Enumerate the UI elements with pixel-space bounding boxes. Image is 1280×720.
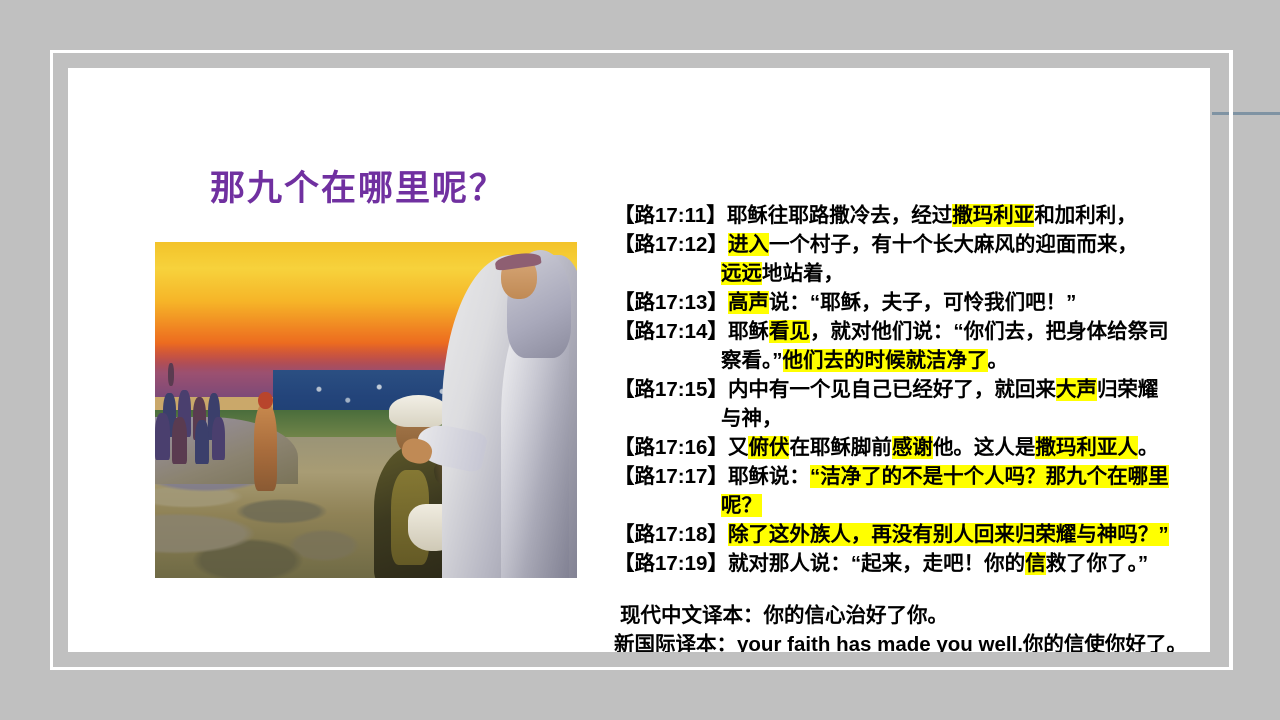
scripture-reference: 【路17:12】 [614, 233, 728, 256]
scripture-text: 与神， [721, 407, 783, 430]
scripture-text: 。 [1138, 436, 1159, 459]
scripture-line: 察看。”他们去的时候就洁净了。 [614, 346, 1210, 375]
scripture-highlight: “洁净了的不是十个人吗？那九个在哪里 [810, 465, 1169, 488]
scripture-highlight: 看见 [769, 320, 810, 343]
scripture-highlight: 进入 [728, 233, 769, 256]
scripture-text: 一个村子，有十个长大麻风的迎面而来， [769, 233, 1138, 256]
scripture-text: 耶稣说： [728, 465, 810, 488]
translation-line: 新国际译本：your faith has made you well.你的信使你… [614, 630, 1210, 652]
translation-label: 新国际译本： [614, 633, 737, 652]
painting-leper-figure [155, 413, 170, 460]
scripture-highlight: 远远 [721, 262, 762, 285]
scripture-highlight: 俯伏 [748, 436, 789, 459]
scripture-reference: 【路17:15】 [614, 378, 728, 401]
scripture-reference: 【路17:17】 [614, 465, 728, 488]
decorative-horizontal-rule [1212, 112, 1280, 115]
scripture-text: 就对那人说：“起来，走吧！你的 [728, 552, 1025, 575]
scripture-line: 呢？ [614, 491, 1210, 520]
scripture-reference: 【路17:13】 [614, 291, 728, 314]
painting-leper-figure [212, 417, 225, 461]
scripture-text: 内中有一个见自己已经好了，就回来 [728, 378, 1056, 401]
scripture-line: 【路17:14】耶稣看见，就对他们说：“你们去，把身体给祭司 [614, 317, 1210, 346]
scripture-text: 察看。” [721, 349, 783, 372]
translations-text-block: 现代中文译本：你的信心治好了你。新国际译本：your faith has mad… [614, 601, 1210, 652]
scripture-line: 与神， [614, 404, 1210, 433]
scripture-reference: 【路17:19】 [614, 552, 728, 575]
scripture-line: 【路17:13】高声说：“耶稣，夫子，可怜我们吧！” [614, 288, 1210, 317]
scripture-text: 耶稣往耶路撒冷去，经过 [727, 204, 953, 227]
scripture-text: 在耶稣脚前 [789, 436, 892, 459]
scripture-line: 远远地站着， [614, 259, 1210, 288]
painting-kneeling-man-turban [389, 395, 448, 427]
painting-standing-figure [254, 403, 277, 490]
scripture-line: 【路17:16】又俯伏在耶稣脚前感谢他。这人是撒玛利亚人。 [614, 433, 1210, 462]
scripture-highlight: 他们去的时候就洁净了 [783, 349, 988, 372]
scripture-text: 归荣耀 [1097, 378, 1159, 401]
painting-leper-figure [195, 420, 209, 464]
jesus-heals-samaritan-leper-image [155, 242, 577, 578]
page-title: 那九个在哪里呢？ [148, 168, 568, 210]
scripture-highlight: 高声 [728, 291, 769, 314]
scripture-highlight: 撒玛利亚人 [1035, 436, 1138, 459]
scripture-highlight: 除了这外族人，再没有别人回来归荣耀与神吗？” [728, 523, 1169, 546]
scripture-text: 又 [728, 436, 749, 459]
scripture-line: 【路17:15】内中有一个见自己已经好了，就回来大声归荣耀 [614, 375, 1210, 404]
scripture-text: 。 [988, 349, 1009, 372]
scripture-line: 【路17:17】耶稣说：“洁净了的不是十个人吗？那九个在哪里 [614, 462, 1210, 491]
scripture-reference: 【路17:14】 [614, 320, 728, 343]
slide-canvas: 那九个在哪里呢？ [68, 68, 1210, 652]
scripture-text: 耶稣 [728, 320, 769, 343]
scripture-text: 救了你了。” [1046, 552, 1149, 575]
scripture-line: 【路17:18】除了这外族人，再没有别人回来归荣耀与神吗？” [614, 520, 1210, 549]
scripture-line: 【路17:11】耶稣往耶路撒冷去，经过撒玛利亚和加利利， [614, 201, 1210, 230]
scripture-line: 【路17:12】进入一个村子，有十个长大麻风的迎面而来， [614, 230, 1210, 259]
translation-text: 你的信心治好了你。 [764, 604, 949, 627]
scripture-highlight: 感谢 [892, 436, 933, 459]
translation-text: your faith has made you well.你的信使你好了。 [737, 633, 1187, 652]
scripture-text: ，就对他们说：“你们去，把身体给祭司 [810, 320, 1169, 343]
scripture-highlight: 大声 [1056, 378, 1097, 401]
scripture-reference: 【路17:11】 [614, 204, 727, 227]
painting-standing-figure-head [258, 392, 272, 409]
translation-label: 现代中文译本： [620, 604, 764, 627]
scripture-text: 说：“耶稣，夫子，可怜我们吧！” [769, 291, 1077, 314]
scripture-text: 和加利利， [1034, 204, 1137, 227]
scripture-highlight: 撒玛利亚 [952, 204, 1034, 227]
scripture-line: 【路17:19】就对那人说：“起来，走吧！你的信救了你了。” [614, 549, 1210, 578]
scripture-highlight: 呢？ [721, 494, 762, 517]
painting-leper-figure [172, 417, 187, 464]
painting-leper-figure [168, 363, 174, 387]
scripture-text: 地站着， [762, 262, 844, 285]
decorative-vertical-rule [1229, 50, 1233, 670]
scripture-reference: 【路17:18】 [614, 523, 728, 546]
slide-stage: 那九个在哪里呢？ [0, 0, 1280, 720]
scripture-reference: 【路17:16】 [614, 436, 728, 459]
translation-line: 现代中文译本：你的信心治好了你。 [614, 601, 1210, 630]
scripture-highlight: 信 [1025, 552, 1046, 575]
scripture-text: 他。这人是 [933, 436, 1036, 459]
scripture-text-block: 【路17:11】耶稣往耶路撒冷去，经过撒玛利亚和加利利，【路17:12】进入一个… [614, 201, 1210, 578]
